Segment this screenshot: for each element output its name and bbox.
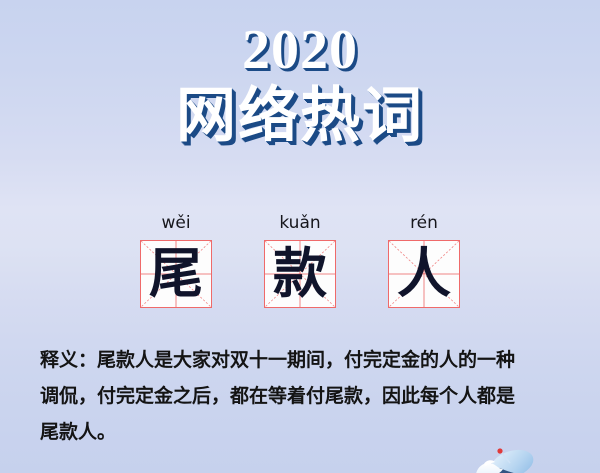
character-grid-box-1: 尾 bbox=[140, 240, 212, 308]
pinyin-label-2: kuǎn bbox=[279, 215, 320, 232]
character-glyph-2: 款 bbox=[265, 241, 335, 307]
headline-title: 网络热词 bbox=[0, 84, 600, 149]
character-card-1: wěi 尾 bbox=[139, 215, 213, 308]
title-area: 2020 网络热词 bbox=[0, 22, 600, 149]
satellite-dish-logo bbox=[470, 442, 560, 473]
character-grid-box-2: 款 bbox=[264, 240, 336, 308]
character-glyph-1: 尾 bbox=[141, 241, 211, 307]
character-glyph-3: 人 bbox=[389, 241, 459, 307]
year-title: 2020 bbox=[0, 22, 600, 78]
character-card-2: kuǎn 款 bbox=[263, 215, 337, 308]
satellite-dish-icon bbox=[470, 442, 560, 473]
explanation-line-2: 调侃，付完定金之后，都在等着付尾款，因此每个人都是 bbox=[40, 378, 568, 414]
explanation-block: 释义：尾款人是大家对双十一期间，付完定金的人的一种 调侃，付完定金之后，都在等着… bbox=[40, 342, 568, 450]
character-card-3: rén 人 bbox=[387, 215, 461, 308]
pinyin-label-1: wěi bbox=[161, 215, 190, 232]
character-row: wěi 尾 kuǎn 款 bbox=[0, 215, 600, 308]
poster-canvas: 2020 网络热词 wěi 尾 kuǎn bbox=[0, 0, 600, 473]
explanation-line-1: 释义：尾款人是大家对双十一期间，付完定金的人的一种 bbox=[40, 342, 568, 378]
pinyin-label-3: rén bbox=[410, 215, 438, 232]
character-grid-box-3: 人 bbox=[388, 240, 460, 308]
